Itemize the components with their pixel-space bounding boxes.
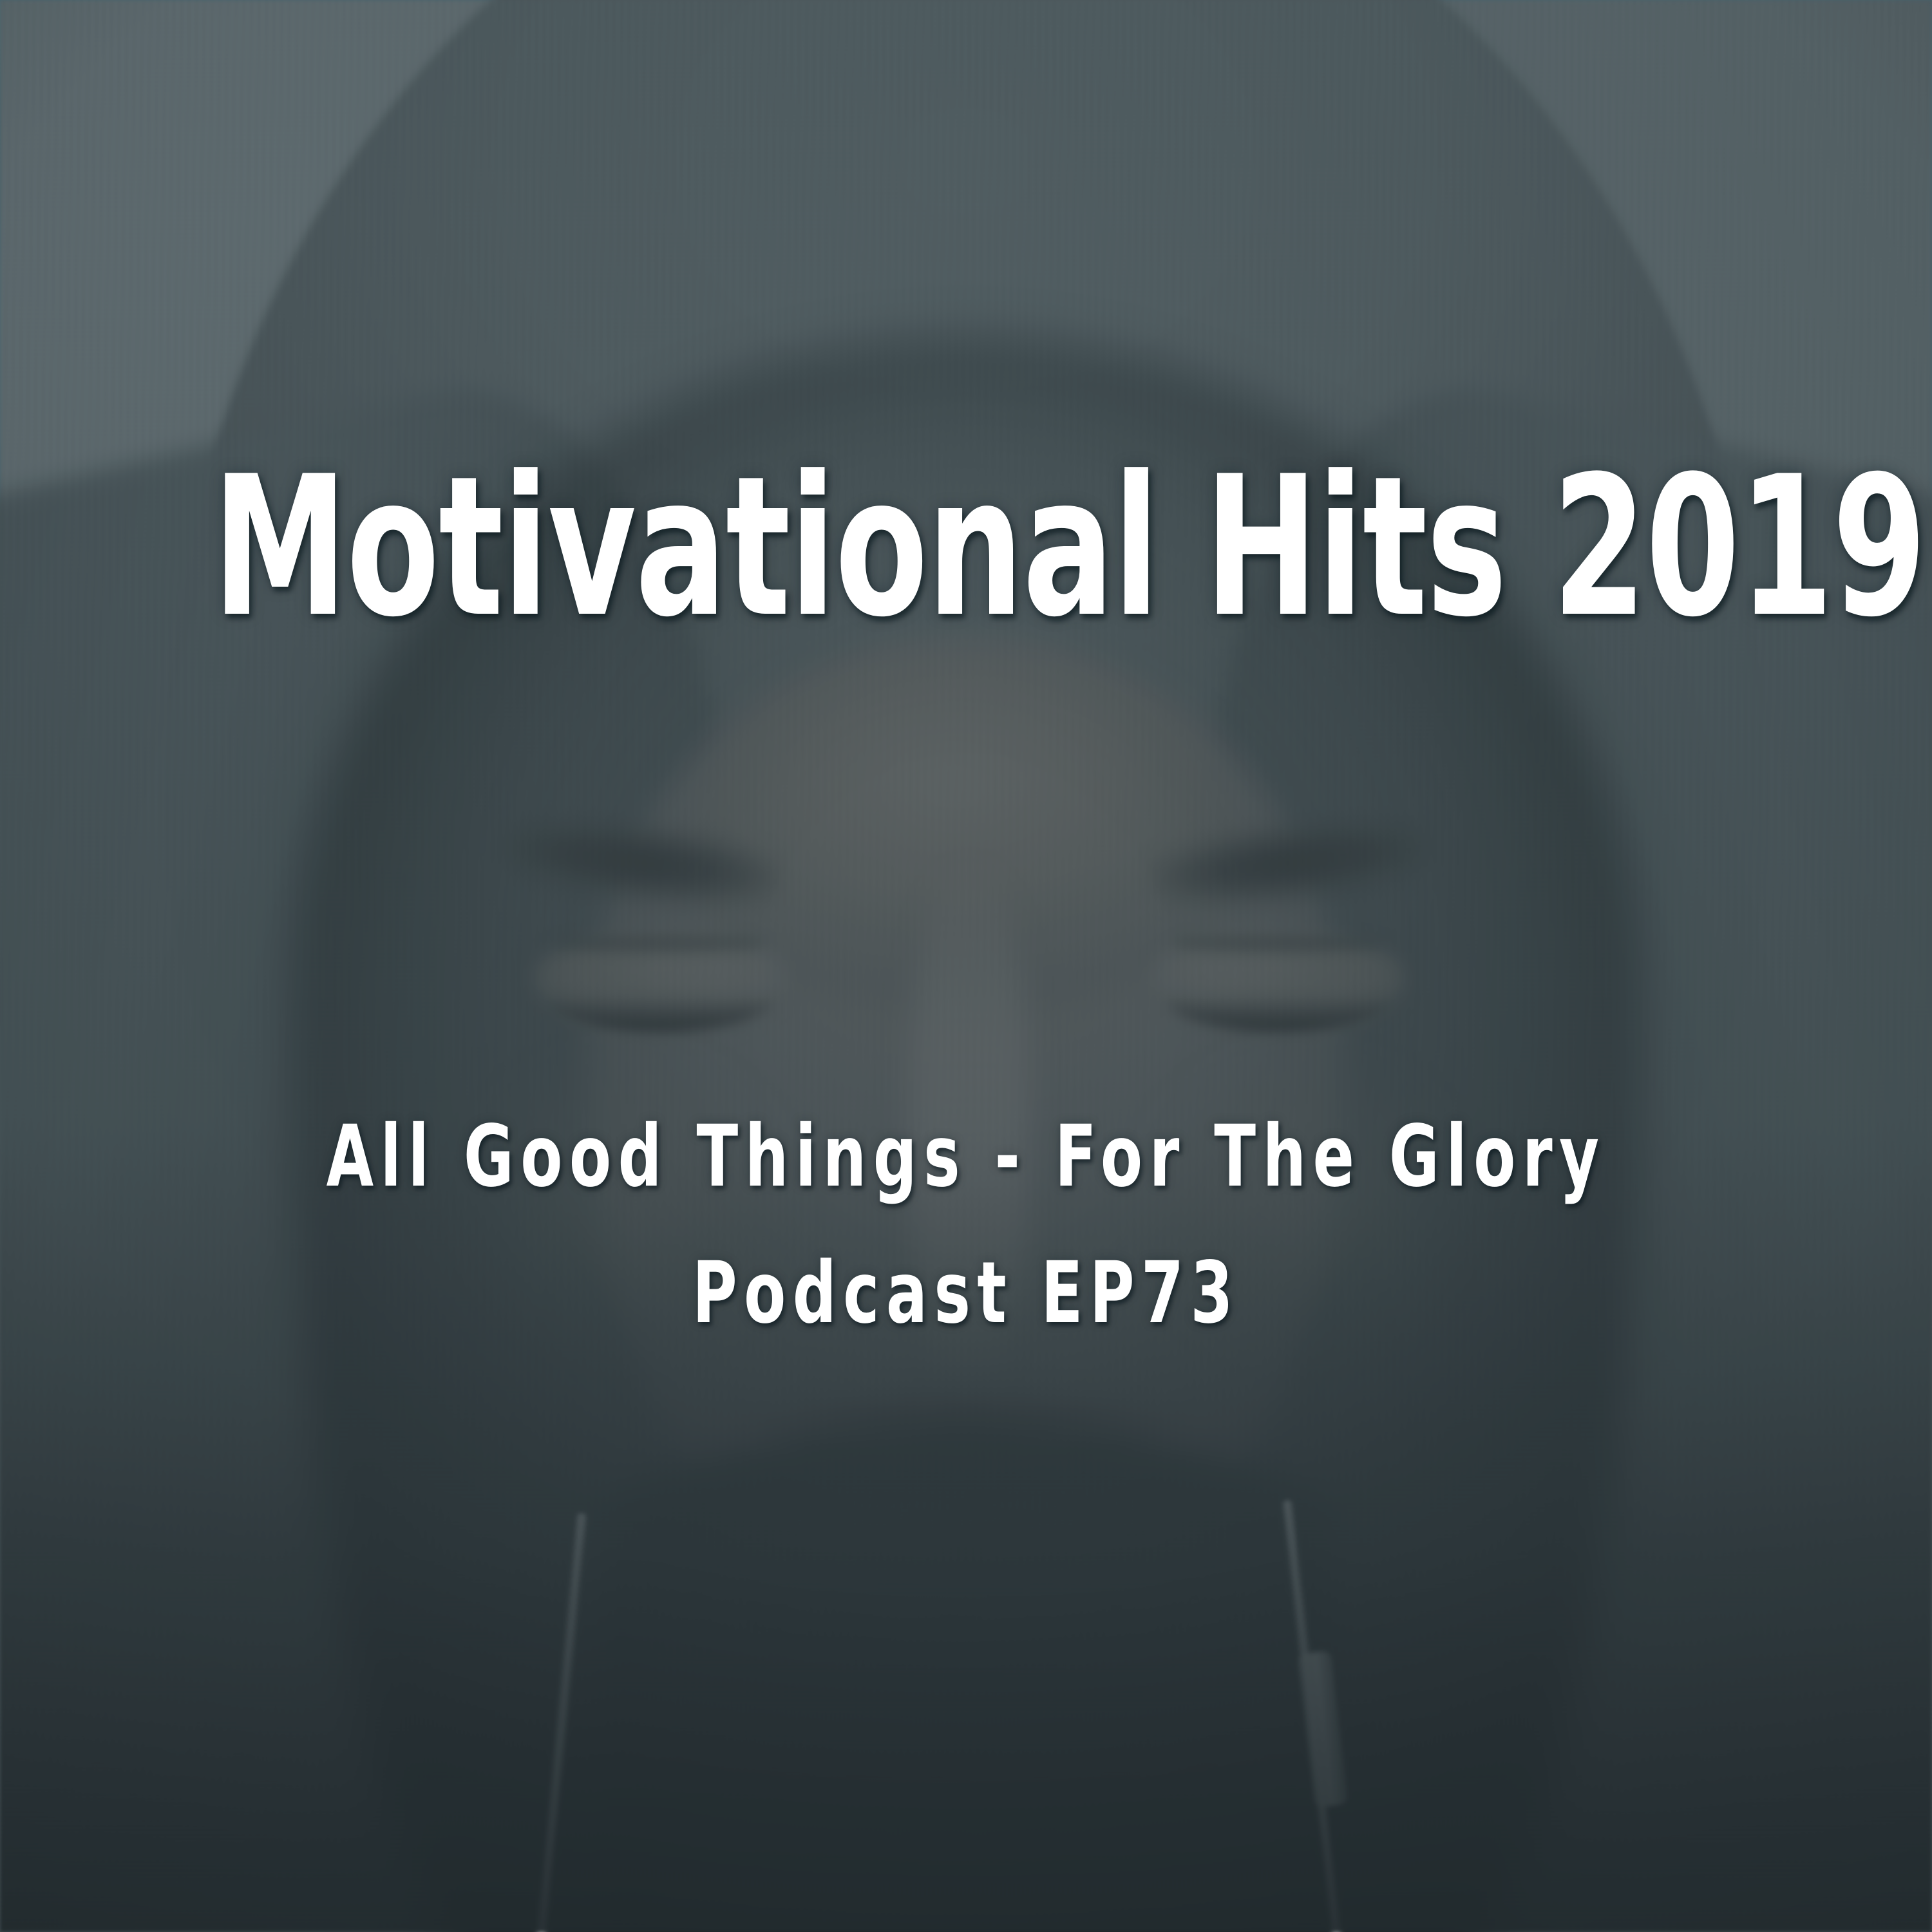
cover-title: Motivational Hits 2019 — [213, 451, 1719, 644]
text-overlay: Motivational Hits 2019 All Good Things -… — [0, 0, 1932, 1932]
subtitle-line-2: Podcast EP73 — [193, 1225, 1739, 1361]
cover-subtitle: All Good Things - For The Glory Podcast … — [193, 1088, 1739, 1361]
podcast-cover-art: Motivational Hits 2019 All Good Things -… — [0, 0, 1932, 1932]
subtitle-line-1: All Good Things - For The Glory — [193, 1088, 1739, 1225]
